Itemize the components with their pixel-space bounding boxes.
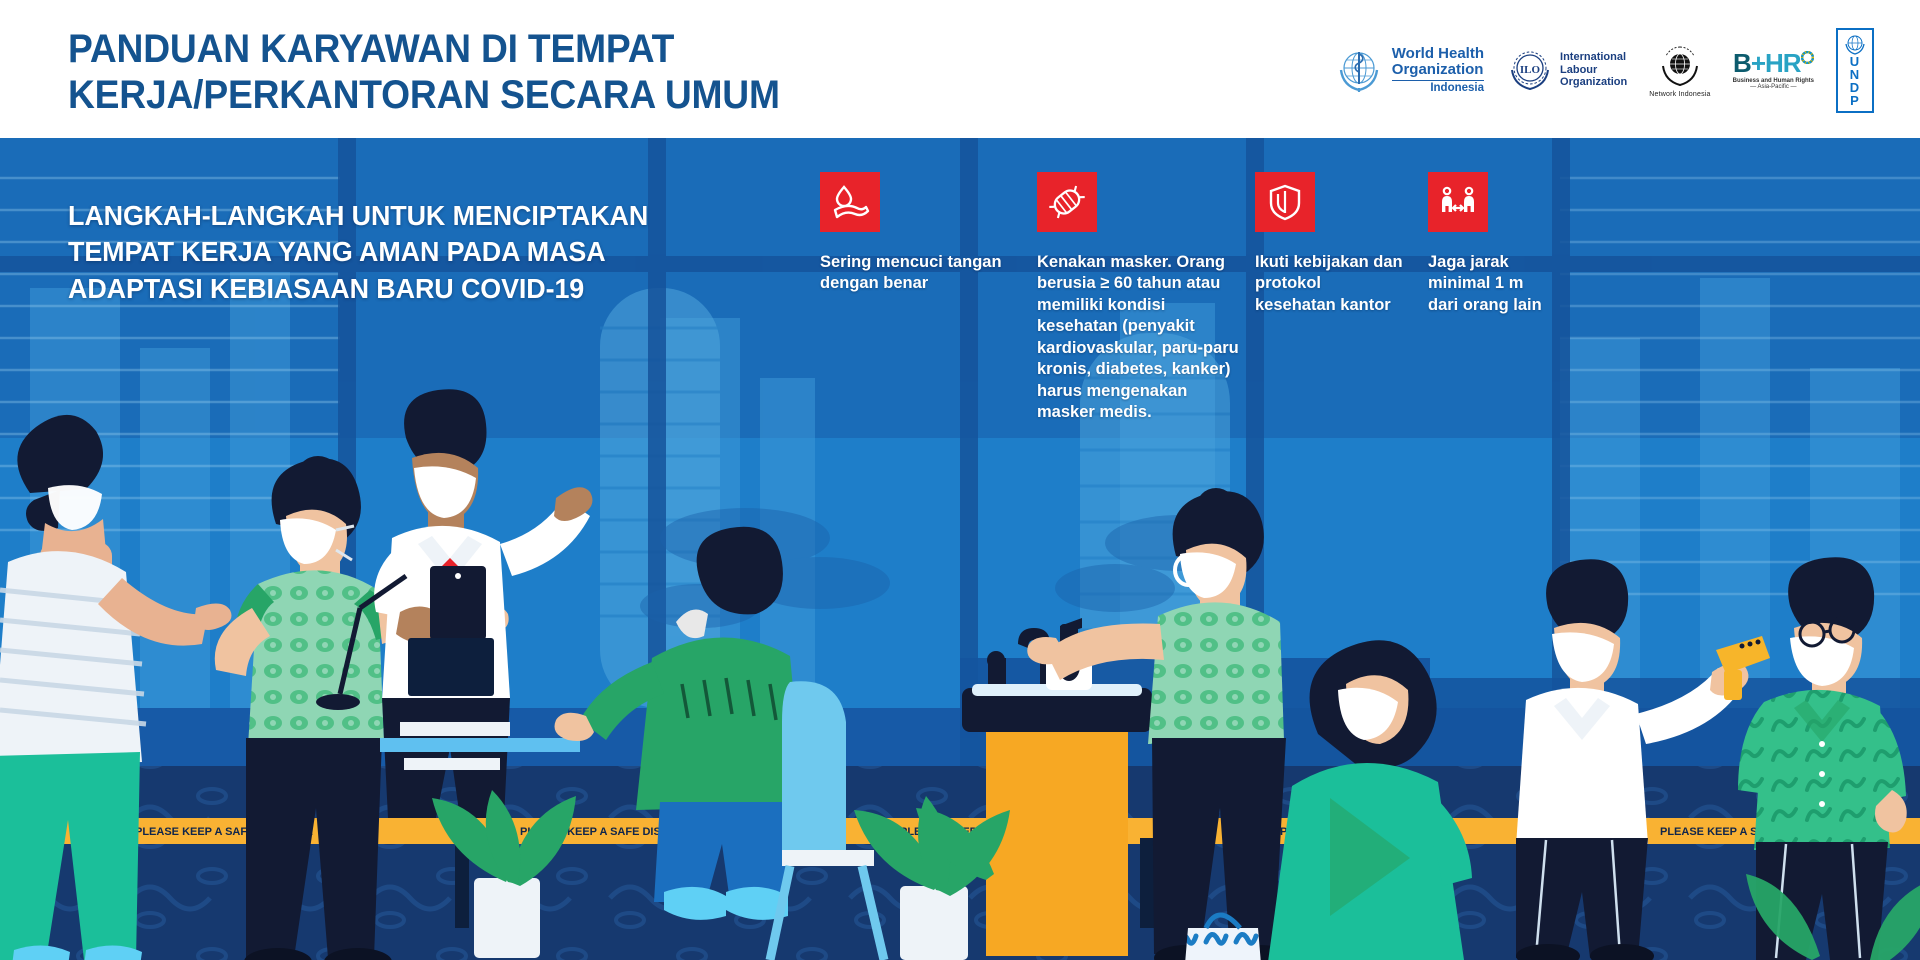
bhr-region: — Asia-Pacific — — [1750, 84, 1796, 90]
bhr-letters-hr: HR — [1765, 48, 1801, 78]
sdg-wheel-icon — [1801, 51, 1814, 64]
social-distance-icon — [1428, 172, 1488, 232]
guideline-tile-mask-text: Kenakan masker. Orang berusia ≥ 60 tahun… — [1037, 252, 1242, 424]
guideline-tile-distance: Jaga jarak minimal 1 m dari orang lain — [1428, 172, 1558, 316]
headline-line3: ADAPTASI KEBIASAAN BARU COVID-19 — [68, 271, 740, 307]
hand-washing-icon — [820, 172, 880, 232]
who-emblem-icon — [1333, 44, 1385, 96]
ilo-logo: ILO International Labour Organization — [1506, 46, 1627, 94]
ilo-name-line3: Organization — [1560, 76, 1627, 89]
headline-line2: TEMPAT KERJA YANG AMAN PADA MASA — [68, 234, 740, 270]
guideline-tile-handwashing-text: Sering mencuci tangan dengan benar — [820, 252, 1005, 295]
globe-wreath-icon — [1657, 43, 1703, 89]
guideline-tile-policy-text: Ikuti kebijakan dan protokol kesehatan k… — [1255, 252, 1405, 316]
header-bar: PANDUAN KARYAWAN DI TEMPAT KERJA/PERKANT… — [0, 0, 1920, 138]
infographic-poster: PANDUAN KARYAWAN DI TEMPAT KERJA/PERKANT… — [0, 0, 1920, 960]
page-title: PANDUAN KARYAWAN DI TEMPAT KERJA/PERKANT… — [68, 26, 868, 119]
page-title-line1: PANDUAN KARYAWAN DI TEMPAT — [68, 26, 868, 72]
undp-letter-u: U — [1850, 55, 1860, 68]
who-name-line2: Organization — [1392, 62, 1484, 78]
ilo-name-line1: International — [1560, 51, 1627, 64]
who-logo: World Health Organization Indonesia — [1333, 44, 1484, 96]
ilo-emblem-icon: ILO — [1506, 46, 1554, 94]
svg-text:ILO: ILO — [1520, 64, 1541, 76]
guideline-tile-policy: Ikuti kebijakan dan protokol kesehatan k… — [1255, 172, 1405, 316]
who-country: Indonesia — [1392, 80, 1484, 94]
gcn-caption: Network Indonesia — [1649, 91, 1710, 98]
ilo-name-line2: Labour — [1560, 64, 1627, 77]
global-compact-network-indonesia-logo: Network Indonesia — [1649, 43, 1710, 98]
logo-strip: World Health Organization Indonesia ILO … — [1333, 26, 1874, 114]
guideline-tile-mask: Kenakan masker. Orang berusia ≥ 60 tahun… — [1037, 172, 1242, 424]
guideline-tile-handwashing: Sering mencuci tangan dengan benar — [820, 172, 1005, 295]
bhr-asia-pacific-logo: B+HR Business and Human Rights — Asia-Pa… — [1733, 50, 1814, 90]
who-name-line1: World Health — [1392, 46, 1484, 62]
guideline-tile-distance-text: Jaga jarak minimal 1 m dari orang lain — [1428, 252, 1558, 316]
page-title-line2: KERJA/PERKANTORAN SECARA UMUM — [68, 72, 868, 118]
shield-icon — [1255, 172, 1315, 232]
bhr-plus-sign: + — [1751, 48, 1765, 78]
headline-text: LANGKAH-LANGKAH UNTUK MENCIPTAKAN TEMPAT… — [68, 198, 740, 307]
undp-letter-n: N — [1850, 68, 1860, 81]
face-mask-icon — [1037, 172, 1097, 232]
undp-letter-p: P — [1850, 94, 1860, 107]
headline-line1: LANGKAH-LANGKAH UNTUK MENCIPTAKAN — [68, 198, 740, 234]
un-emblem-icon — [1844, 33, 1866, 55]
undp-logo: U N D P — [1836, 28, 1874, 113]
bhr-letter-b: B — [1733, 48, 1751, 78]
undp-letter-d: D — [1850, 81, 1860, 94]
